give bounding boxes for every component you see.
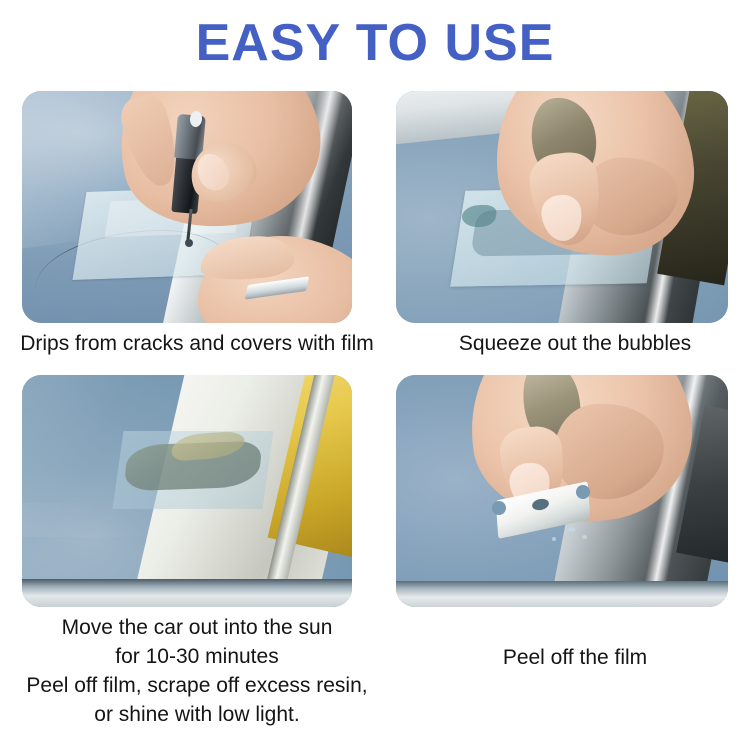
steps-grid: Drips from cracks and covers with film S… [0,91,750,750]
caption-line: Move the car out into the sun [10,613,384,642]
resin-speck [568,527,575,532]
car-curing-in-sun-photo [22,375,352,607]
windshield-resin-application-photo [22,91,352,323]
resin-drop [185,239,193,247]
step-caption-1: Drips from cracks and covers with film [10,329,384,358]
resin-speck [552,537,556,541]
hood-edge [396,581,728,607]
film-squeegee-photo [396,91,728,323]
caption-line: Drips from cracks and covers with film [10,329,384,358]
caption-line: for 10-30 minutes [10,642,384,671]
step-item-4: Peel off the film [396,375,728,660]
page-title: EASY TO USE [0,12,750,74]
step-caption-3: Move the car out into the sun for 10-30 … [10,613,384,729]
razor-blade-scraping-photo [396,375,728,607]
step-item-1: Drips from cracks and covers with film [22,91,352,376]
step-item-2: Squeeze out the bubbles [396,91,728,376]
step-caption-2: Squeeze out the bubbles [388,329,750,358]
caption-line: Peel off film, scrape off excess resin, [10,671,384,700]
resin-speck [582,535,587,539]
step-item-3: Move the car out into the sun for 10-30 … [22,375,352,660]
caption-line: Squeeze out the bubbles [388,329,750,358]
hood-edge [22,579,352,607]
caption-line: or shine with low light. [10,700,384,729]
step-caption-4: Peel off the film [388,643,750,672]
caption-line: Peel off the film [388,643,750,672]
